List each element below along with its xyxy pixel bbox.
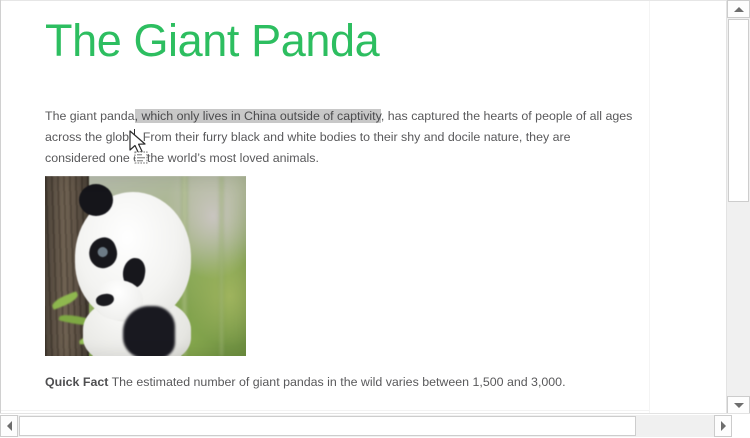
- scroll-up-button[interactable]: [727, 0, 750, 18]
- quick-fact-label: Quick Fact: [45, 375, 108, 389]
- vertical-scrollbar-thumb[interactable]: [728, 19, 749, 202]
- text-insertion-caret: [134, 129, 135, 144]
- chevron-up-icon: [734, 7, 744, 12]
- scroll-down-button[interactable]: [727, 396, 750, 414]
- quick-fact-line[interactable]: Quick Fact The estimated number of giant…: [45, 373, 625, 391]
- document-canvas[interactable]: The Giant Panda The giant panda, which o…: [1, 1, 727, 413]
- chevron-down-icon: [734, 403, 744, 408]
- scroll-left-button[interactable]: [0, 415, 18, 437]
- panda-photo[interactable]: [45, 176, 246, 356]
- selected-text-highlight[interactable]: , which only lives in China outside of c…: [135, 109, 381, 123]
- photo-vignette: [45, 176, 246, 356]
- horizontal-scrollbar[interactable]: [0, 413, 750, 438]
- paragraph-text-before-selection: The giant panda: [45, 109, 135, 123]
- document-editor-window: The Giant Panda The giant panda, which o…: [0, 0, 750, 438]
- horizontal-scrollbar-thumb[interactable]: [19, 416, 636, 436]
- page-right-margin-rule: [649, 1, 650, 413]
- scroll-right-button[interactable]: [714, 415, 732, 437]
- quick-fact-text: The estimated number of giant pandas in …: [108, 375, 565, 389]
- vertical-scrollbar[interactable]: [726, 0, 750, 414]
- chevron-right-icon: [721, 421, 726, 431]
- page-bottom-rule: [1, 410, 649, 411]
- document-title[interactable]: The Giant Panda: [45, 15, 379, 67]
- chevron-left-icon: [7, 421, 12, 431]
